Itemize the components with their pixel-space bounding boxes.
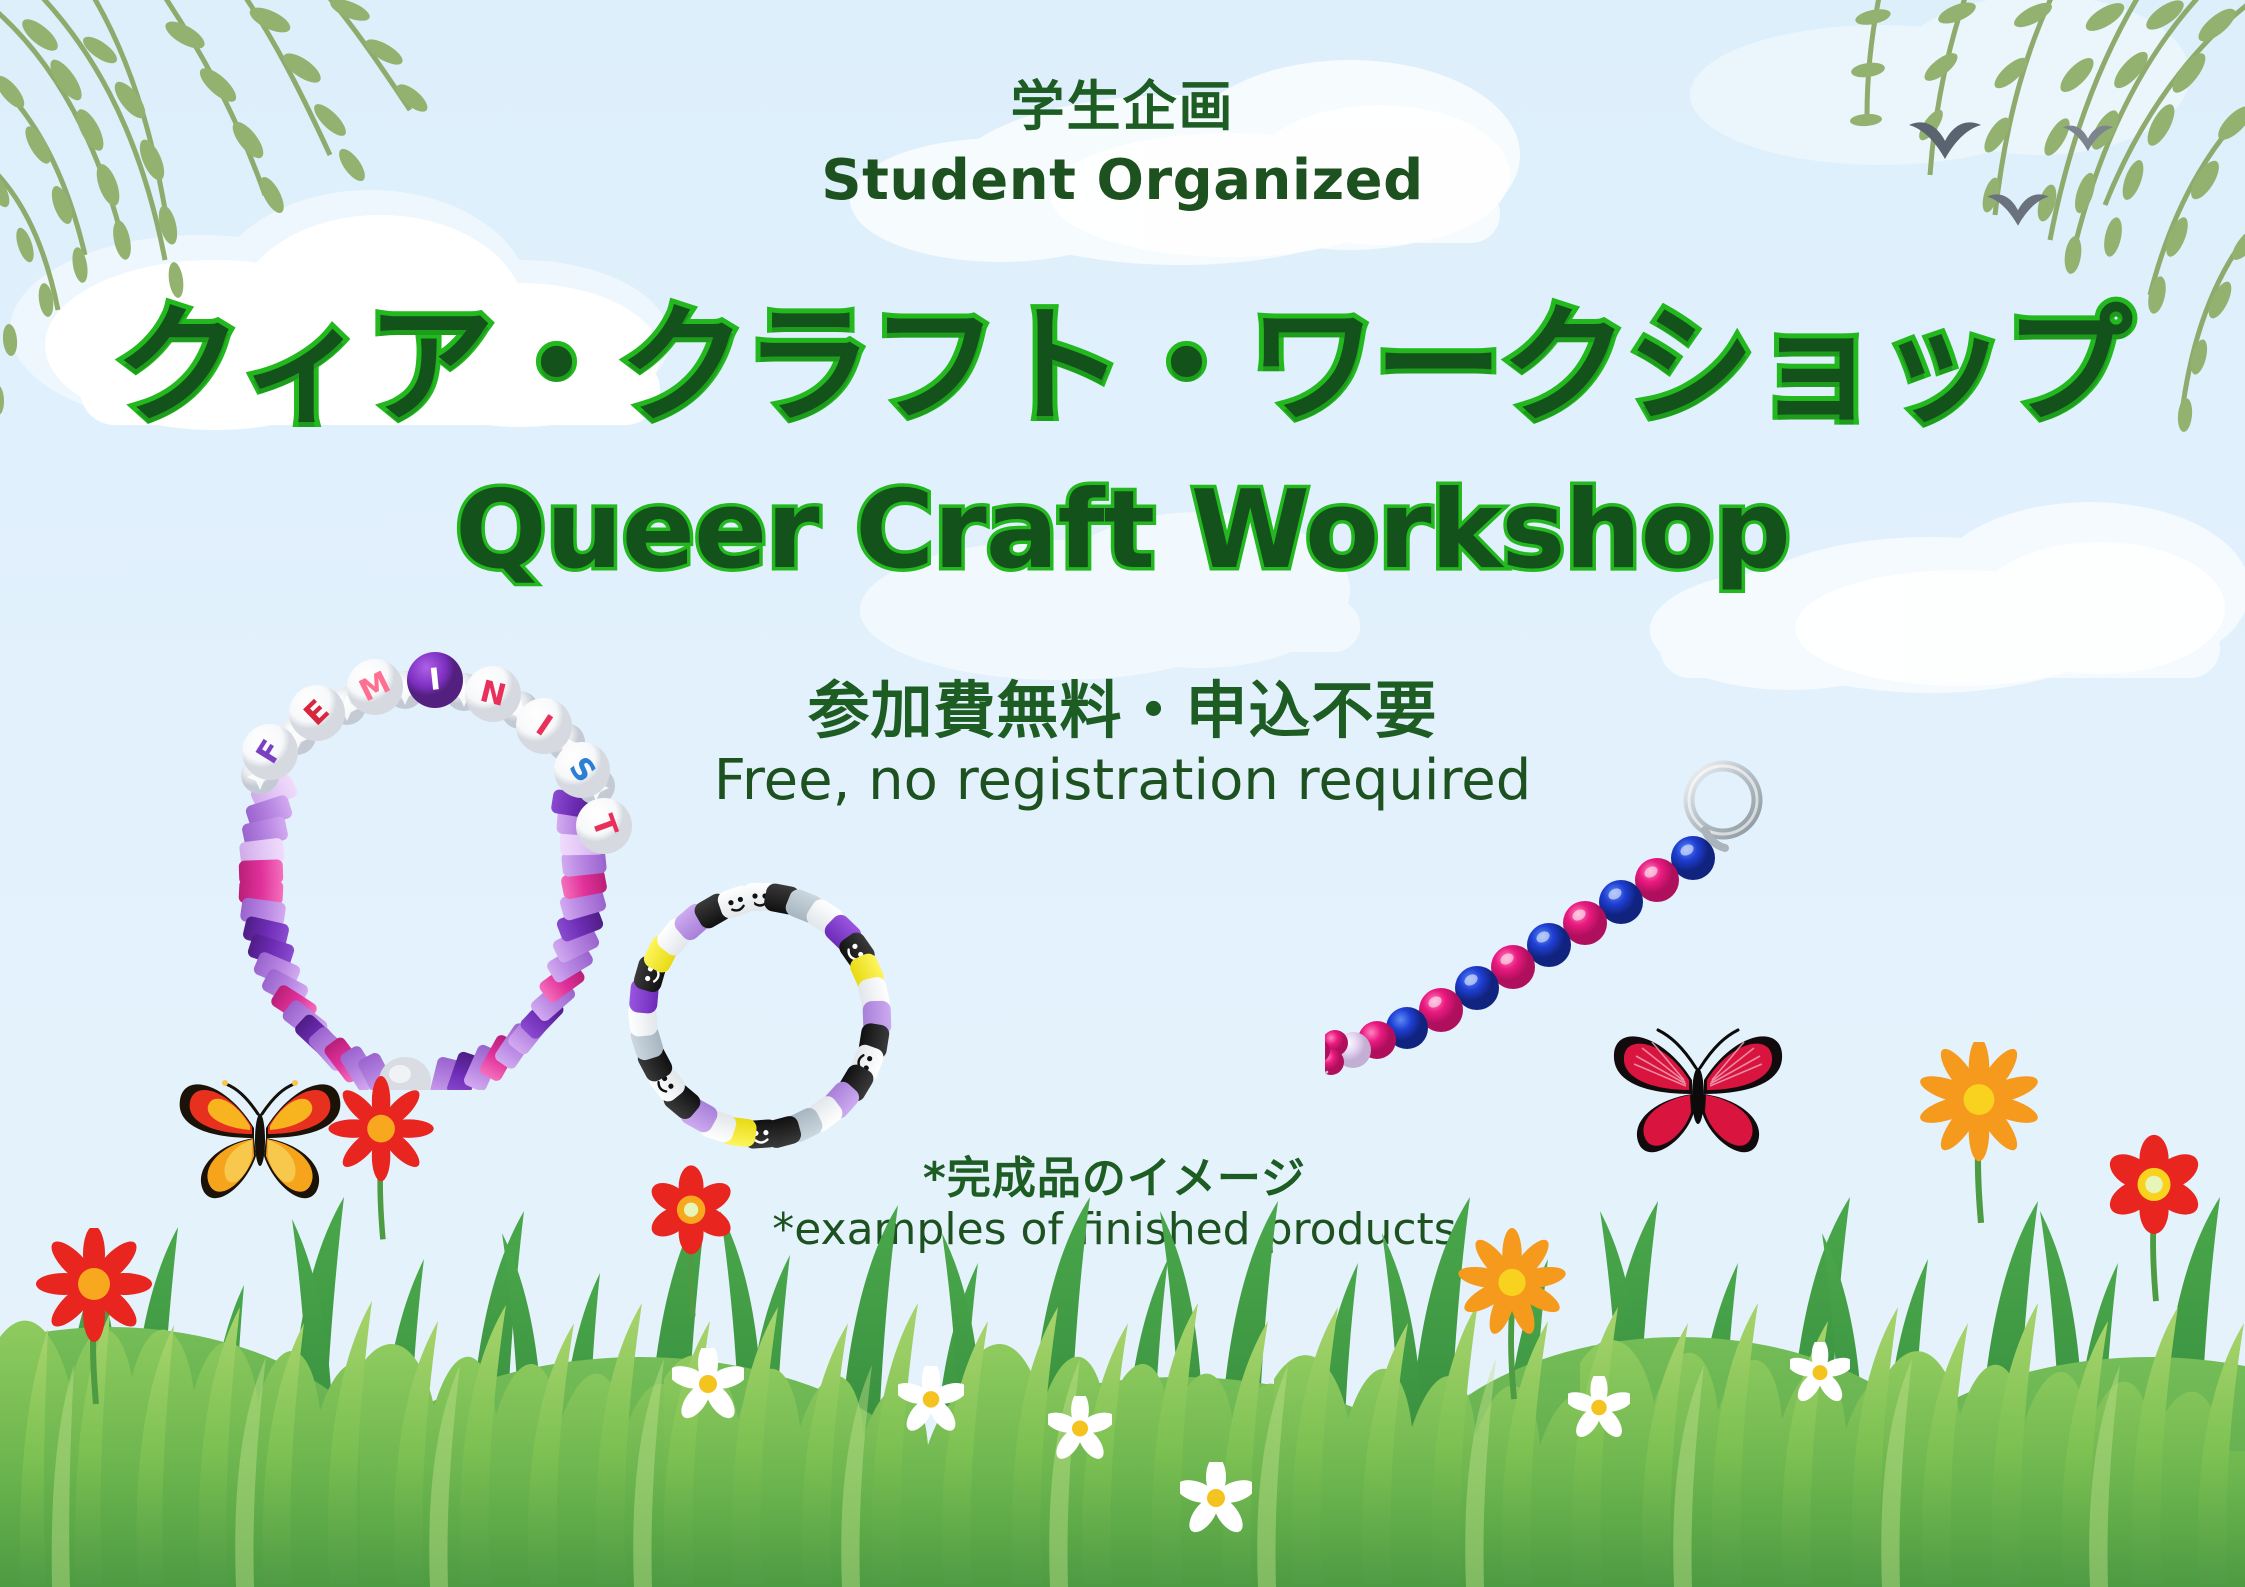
letter-bead-E: E [289,685,345,741]
flower-white-5 [1568,1376,1630,1446]
letter-bead-N: N [465,666,521,722]
heishi-bead-arc [238,773,607,1090]
poster-canvas: 学生企画 Student Organized クィア・クラフト・ワークショップ … [0,0,2245,1587]
flower-orange-2 [1448,1228,1578,1403]
flower-white-6 [1790,1342,1850,1410]
flower-white-4 [1180,1462,1252,1542]
kicker-english: Student Organized [0,148,2245,213]
letter-bead-F: F [242,724,298,780]
kicker-japanese: 学生企画 [0,62,2245,141]
letter-bead-S: S [554,742,610,798]
page-title-english: Queer Craft Workshop [0,468,2245,593]
flower-red-4 [2090,1130,2220,1305]
letter-bead-I: I [407,652,463,708]
butterfly-orange [170,1056,350,1206]
butterfly-crimson [1608,1010,1788,1160]
flower-red-1 [30,1228,160,1408]
letter-bead-T: T [576,798,632,854]
flower-orange-1 [1910,1042,2050,1227]
letter-bead-M: M [347,659,403,715]
smiley-bracelet [595,850,925,1180]
flower-white-2 [898,1366,964,1440]
flower-white-1 [672,1348,744,1428]
keyring-icon [1689,766,1757,848]
letter-bead-I2: I [516,698,572,754]
flower-red-3 [632,1160,752,1320]
page-title-japanese: クィア・クラフト・ワークショップ [0,262,2245,447]
flower-white-3 [1048,1396,1112,1468]
